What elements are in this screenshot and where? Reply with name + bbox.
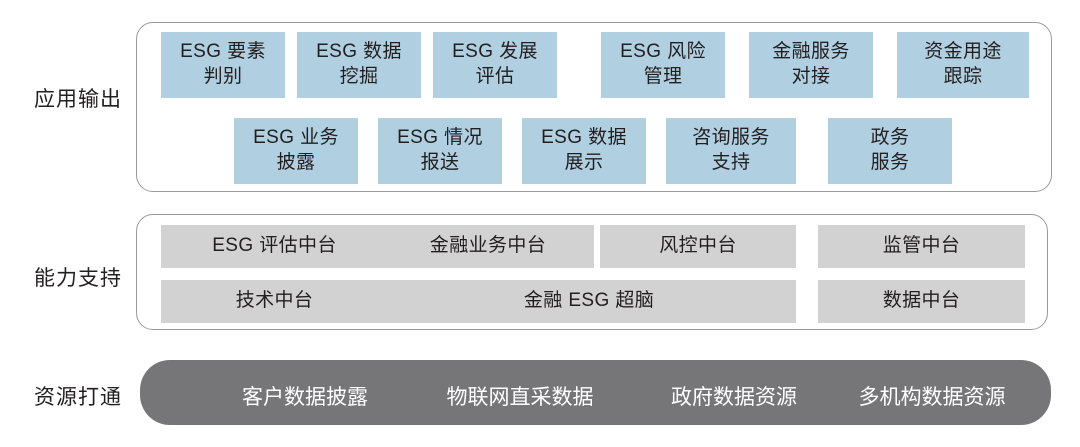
chip-esg-development-assessment[interactable]: ESG 发展 评估	[433, 32, 557, 98]
chip-text: 数据中台	[883, 289, 961, 314]
chip-technology-platform[interactable]: 技术中台	[161, 280, 388, 323]
chip-esg-data-mining[interactable]: ESG 数据 挖掘	[297, 32, 421, 98]
chip-text: 咨询服务 支持	[692, 126, 770, 175]
chip-financial-business-platform[interactable]: 金融业务中台	[382, 225, 594, 268]
chip-fund-usage-tracking[interactable]: 资金用途 跟踪	[897, 32, 1029, 98]
resource-item-government-data-resource[interactable]: 政府数据资源	[634, 381, 834, 411]
chip-text: 金融业务中台	[430, 234, 546, 259]
chip-text: ESG 数据 展示	[541, 126, 627, 175]
chip-text: ESG 业务 披露	[253, 126, 339, 175]
chip-text: 资金用途 跟踪	[924, 40, 1002, 89]
chip-text: ESG 情况 报送	[397, 126, 483, 175]
chip-consulting-service-support[interactable]: 咨询服务 支持	[666, 118, 796, 184]
chip-data-platform[interactable]: 数据中台	[818, 280, 1025, 323]
chip-text: 金融服务 对接	[772, 40, 850, 89]
band-label-application-output: 应用输出	[22, 83, 134, 113]
chip-text: 监管中台	[883, 234, 961, 259]
chip-risk-control-platform[interactable]: 风控中台	[600, 225, 796, 268]
chip-esg-assessment-platform[interactable]: ESG 评估中台	[161, 225, 388, 268]
chip-text: 风控中台	[659, 234, 737, 259]
chip-text: ESG 评估中台	[212, 234, 337, 259]
band-label-resource-integration: 资源打通	[22, 381, 134, 411]
chip-financial-esg-super-brain[interactable]: 金融 ESG 超脑	[382, 280, 796, 323]
diagram-canvas: 应用输出 ESG 要素 判别 ESG 数据 挖掘 ESG 发展 评估 ESG 风…	[0, 0, 1080, 447]
chip-esg-business-disclosure[interactable]: ESG 业务 披露	[234, 118, 358, 184]
chip-text: 技术中台	[236, 289, 314, 314]
chip-esg-data-display[interactable]: ESG 数据 展示	[522, 118, 646, 184]
chip-text: ESG 风险 管理	[620, 40, 706, 89]
chip-esg-risk-management[interactable]: ESG 风险 管理	[601, 32, 725, 98]
chip-financial-service-docking[interactable]: 金融服务 对接	[749, 32, 873, 98]
chip-text: ESG 数据 挖掘	[316, 40, 402, 89]
resource-item-iot-direct-data[interactable]: 物联网直采数据	[410, 381, 630, 411]
resource-item-customer-data-disclosure[interactable]: 客户数据披露	[205, 381, 405, 411]
chip-text: ESG 发展 评估	[452, 40, 538, 89]
resource-item-multi-institution-data-resource[interactable]: 多机构数据资源	[822, 381, 1042, 411]
chip-esg-situation-reporting[interactable]: ESG 情况 报送	[378, 118, 502, 184]
band-label-capability-support: 能力支持	[22, 262, 134, 292]
chip-text: 金融 ESG 超脑	[524, 289, 654, 314]
chip-text: ESG 要素 判别	[180, 40, 266, 89]
chip-esg-element-identification[interactable]: ESG 要素 判别	[161, 32, 285, 98]
chip-government-affairs-service[interactable]: 政务 服务	[828, 118, 952, 184]
chip-text: 政务 服务	[871, 126, 910, 175]
chip-supervision-platform[interactable]: 监管中台	[818, 225, 1025, 268]
